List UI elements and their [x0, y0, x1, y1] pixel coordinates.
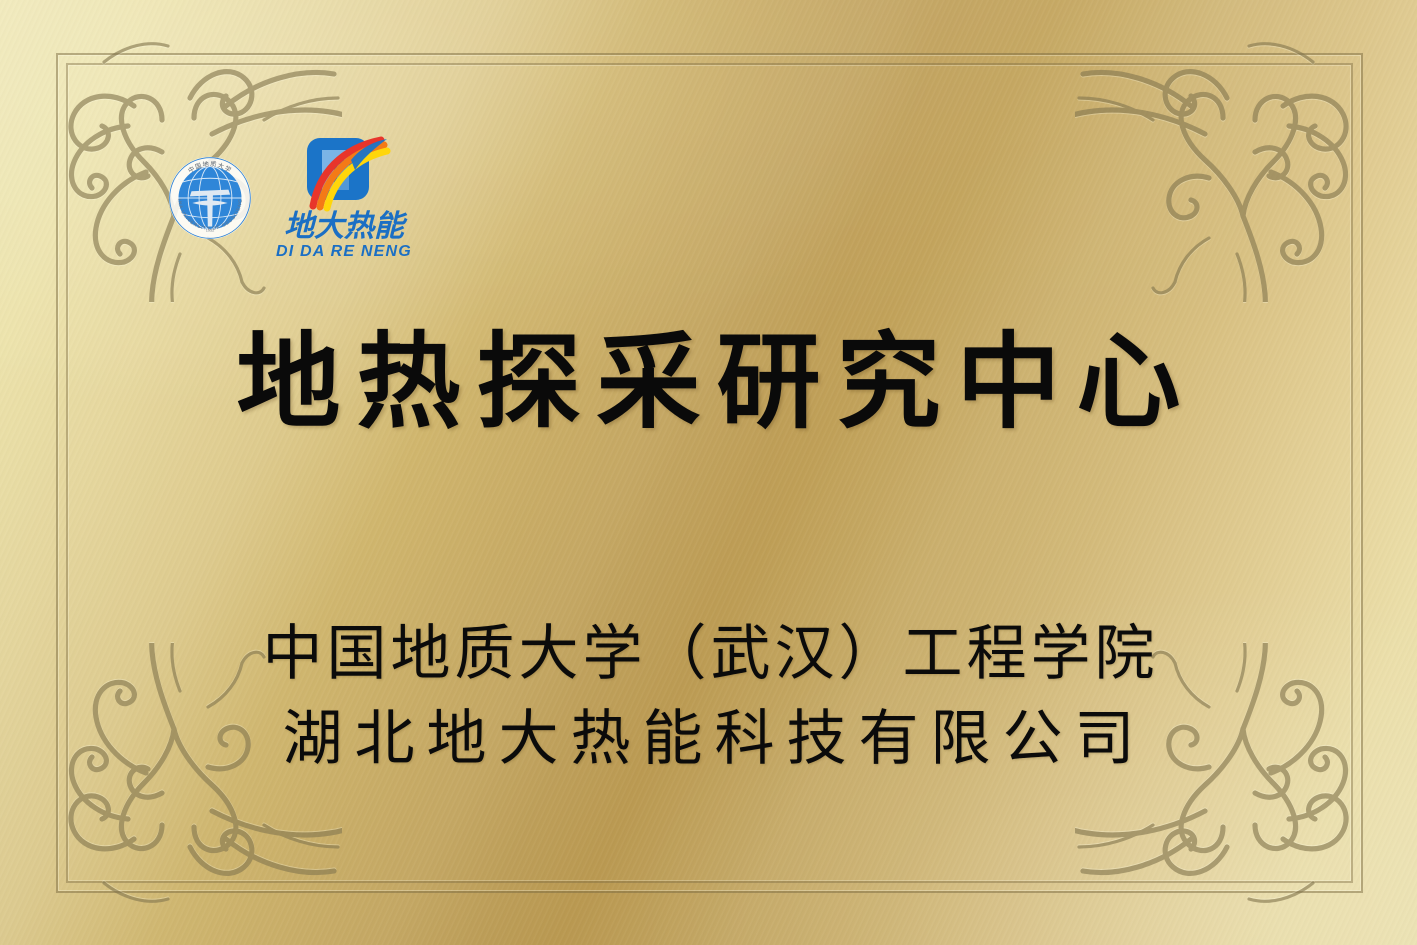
affiliation-line-university: 中国地质大学（武汉）工程学院: [0, 612, 1417, 697]
company-name-pinyin: DI DA RE NENG: [276, 244, 412, 260]
corner-flourish-icon: [1075, 2, 1405, 302]
logo-row: 中国地质大学 CHINA UNIVERSITY OF GEOSCIENCES 1…: [168, 136, 412, 260]
didareneng-mark-icon: [289, 136, 399, 212]
page-title: 地热探采研究中心: [0, 326, 1417, 438]
affiliation-line-company: 湖北地大热能科技有限公司: [0, 697, 1417, 782]
university-seal-icon: 中国地质大学 CHINA UNIVERSITY OF GEOSCIENCES 1…: [168, 156, 252, 240]
company-name-cn: 地大热能: [284, 212, 404, 242]
name-plaque: 中国地质大学 CHINA UNIVERSITY OF GEOSCIENCES 1…: [0, 0, 1417, 945]
affiliation-block: 中国地质大学（武汉）工程学院 湖北地大热能科技有限公司: [0, 612, 1417, 782]
didareneng-logo-icon: 地大热能 DI DA RE NENG: [276, 136, 412, 260]
svg-text:1952: 1952: [206, 229, 215, 233]
